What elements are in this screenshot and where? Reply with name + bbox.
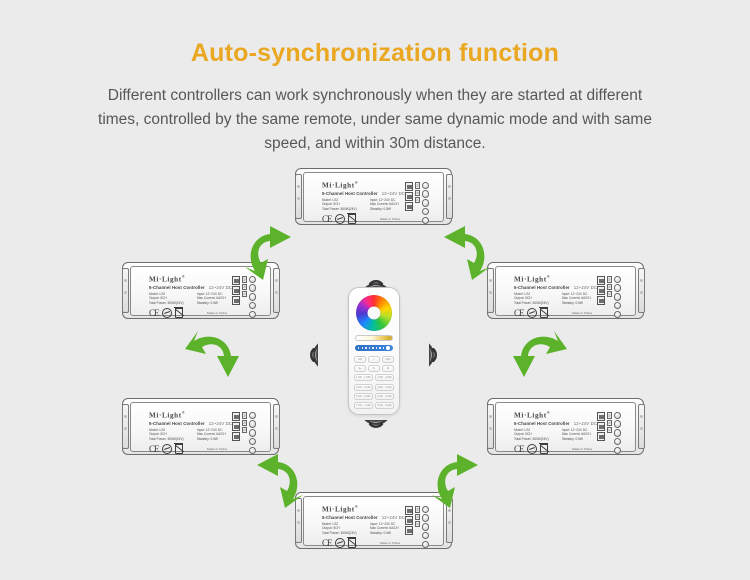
terminal-label bbox=[232, 276, 240, 285]
remote-key[interactable]: 4 ON4 OFF bbox=[375, 384, 394, 391]
remote-key-row: ONIOFF bbox=[354, 356, 394, 363]
color-wheel-icon[interactable] bbox=[356, 295, 392, 331]
device-terminal-block: V+RG bbox=[405, 506, 430, 549]
remote-key[interactable]: 3 ON3 OFF bbox=[354, 384, 373, 391]
terminal-screw bbox=[249, 412, 257, 420]
terminal-label bbox=[405, 516, 413, 525]
weee-bin-icon bbox=[175, 444, 184, 454]
terminal-screw bbox=[422, 199, 430, 207]
device-brand: Mi·Light® bbox=[514, 410, 550, 419]
terminal-screw bbox=[614, 438, 622, 446]
remote-key-label: 8 ON bbox=[377, 404, 383, 407]
device-face: Mi·Light® 5-Channel Host Controller12~24… bbox=[495, 266, 636, 316]
device-certifications: CE bbox=[514, 308, 548, 318]
ce-mark-icon: CE bbox=[514, 308, 524, 318]
terminal-screws bbox=[249, 276, 257, 319]
controller-right-lower: Mi·Light® 5-Channel Host Controller12~24… bbox=[487, 398, 644, 455]
device-certifications: CE bbox=[149, 444, 183, 454]
terminal-screw bbox=[249, 302, 257, 310]
device-model: 5-Channel Host Controller12~24V DC bbox=[514, 285, 597, 290]
terminal-port: G bbox=[242, 427, 247, 433]
remote-key-label: 7 OFF bbox=[364, 404, 371, 407]
terminal-screw bbox=[614, 429, 622, 437]
terminal-screw bbox=[422, 208, 430, 216]
terminal-screw bbox=[614, 447, 622, 455]
terminal-label bbox=[232, 286, 240, 295]
arrow-right-icon bbox=[508, 332, 570, 388]
mounting-ear-right bbox=[638, 404, 645, 449]
device-terminal-block: V+RG bbox=[232, 276, 257, 319]
terminal-labels bbox=[232, 276, 240, 305]
device-spec-line: Total Power: 360W(24V) bbox=[149, 301, 197, 306]
device-certifications: CE bbox=[149, 308, 183, 318]
device-made-in: Made in China bbox=[572, 447, 592, 451]
device-spec-line: Total Power: 360W(24V) bbox=[149, 437, 197, 442]
terminal-screw bbox=[422, 190, 430, 198]
page-title: Auto-synchronization function bbox=[0, 39, 750, 68]
terminal-label bbox=[405, 192, 413, 201]
terminal-screw bbox=[249, 420, 257, 428]
terminal-label bbox=[405, 202, 413, 211]
remote-key-label: 1 OFF bbox=[364, 376, 371, 379]
terminal-port: V+ bbox=[415, 506, 420, 513]
remote-key[interactable]: 2 ON2 OFF bbox=[375, 374, 394, 381]
terminal-screw bbox=[614, 276, 622, 284]
signal-up-icon bbox=[356, 258, 396, 288]
device-face: Mi·Light® 5-Channel Host Controller12~24… bbox=[303, 496, 444, 546]
terminal-screw bbox=[249, 438, 257, 446]
terminal-ports: V+RG bbox=[415, 182, 420, 203]
device-certifications: CE bbox=[322, 214, 356, 224]
mounting-ear-left bbox=[122, 404, 129, 449]
mounting-ear-right bbox=[273, 404, 280, 449]
device-model: 5-Channel Host Controller12~24V DC bbox=[514, 421, 597, 426]
terminal-screws bbox=[614, 276, 622, 319]
terminal-labels bbox=[232, 412, 240, 441]
terminal-port: G bbox=[242, 291, 247, 297]
remote-key-row: 1 ON1 OFF2 ON2 OFF bbox=[354, 374, 394, 381]
remote-key-label: 1 ON bbox=[356, 376, 362, 379]
remote-key-label: 4 ON bbox=[377, 386, 383, 389]
rohs-icon bbox=[527, 308, 537, 318]
remote-key[interactable]: ON bbox=[354, 356, 366, 363]
remote-key-label: 3 ON bbox=[356, 386, 362, 389]
terminal-screw bbox=[422, 182, 430, 190]
terminal-port: R bbox=[607, 420, 612, 426]
device-brand: Mi·Light® bbox=[514, 274, 550, 283]
weee-bin-icon bbox=[175, 308, 184, 318]
device-face: Mi·Light® 5-Channel Host Controller12~24… bbox=[495, 402, 636, 452]
mounting-ear-left bbox=[487, 404, 494, 449]
rohs-icon bbox=[162, 308, 172, 318]
remote-keypad[interactable]: ONIOFFS+S-M1 ON1 OFF2 ON2 OFF3 ON3 OFF4 … bbox=[354, 356, 394, 409]
remote-key-label: 5 ON bbox=[356, 395, 362, 398]
weee-bin-icon bbox=[348, 538, 357, 548]
device-spec-line: Total Power: 360W(24V) bbox=[322, 207, 370, 212]
terminal-port: G bbox=[415, 521, 420, 527]
remote-key-label: 6 OFF bbox=[385, 395, 392, 398]
device-face: Mi·Light® 5-Channel Host Controller12~24… bbox=[303, 172, 444, 222]
remote-key[interactable]: 7 ON7 OFF bbox=[354, 402, 373, 409]
weee-bin-icon bbox=[540, 444, 549, 454]
weee-bin-icon bbox=[348, 214, 357, 224]
remote-control[interactable]: ONIOFFS+S-M1 ON1 OFF2 ON2 OFF3 ON3 OFF4 … bbox=[348, 287, 400, 415]
remote-key-label: 4 OFF bbox=[385, 386, 392, 389]
terminal-labels bbox=[597, 276, 605, 305]
terminal-screw bbox=[422, 541, 430, 549]
device-made-in: Made in China bbox=[207, 447, 227, 451]
rohs-icon bbox=[162, 444, 172, 454]
terminal-screw bbox=[422, 217, 430, 225]
device-terminal-block: V+RG bbox=[232, 412, 257, 455]
terminal-screw bbox=[614, 420, 622, 428]
brightness-slider[interactable] bbox=[355, 335, 393, 341]
remote-key-row: 5 ON5 OFF6 ON6 OFF bbox=[354, 393, 394, 400]
remote-key[interactable]: S- bbox=[368, 365, 380, 372]
remote-key-row: S+S-M bbox=[354, 365, 394, 372]
signal-right-icon bbox=[424, 340, 464, 370]
device-certifications: CE bbox=[322, 538, 356, 548]
device-certifications: CE bbox=[514, 444, 548, 454]
device-model: 5-Channel Host Controller12~24V DC bbox=[149, 285, 232, 290]
device-spec-line: Total Power: 360W(24V) bbox=[322, 531, 370, 536]
terminal-screw bbox=[422, 532, 430, 540]
device-brand: Mi·Light® bbox=[149, 274, 185, 283]
remote-key-label: 5 OFF bbox=[364, 395, 371, 398]
terminal-screw bbox=[614, 284, 622, 292]
device-model: 5-Channel Host Controller12~24V DC bbox=[322, 515, 405, 520]
terminal-port: G bbox=[607, 291, 612, 297]
terminal-screws bbox=[422, 506, 430, 549]
device-made-in: Made in China bbox=[572, 311, 592, 315]
terminal-screws bbox=[249, 412, 257, 455]
mounting-ear-right bbox=[446, 174, 453, 219]
ce-mark-icon: CE bbox=[322, 214, 332, 224]
terminal-label bbox=[232, 412, 240, 421]
terminal-screw bbox=[249, 293, 257, 301]
terminal-port: R bbox=[415, 514, 420, 520]
terminal-port: V+ bbox=[415, 182, 420, 189]
zone-selector-bar[interactable] bbox=[355, 345, 393, 351]
ce-mark-icon: CE bbox=[149, 444, 159, 454]
device-made-in: Made in China bbox=[380, 541, 400, 545]
arrow-bottom-right-icon bbox=[430, 452, 492, 508]
terminal-labels bbox=[405, 506, 413, 535]
terminal-port: G bbox=[415, 197, 420, 203]
terminal-screw bbox=[249, 284, 257, 292]
signal-down-icon bbox=[356, 420, 396, 450]
remote-key[interactable]: 1 ON1 OFF bbox=[354, 374, 373, 381]
controller-right-upper: Mi·Light® 5-Channel Host Controller12~24… bbox=[487, 262, 644, 319]
terminal-screw bbox=[614, 293, 622, 301]
remote-key-label: 3 OFF bbox=[364, 386, 371, 389]
terminal-label bbox=[405, 506, 413, 515]
terminal-port: R bbox=[242, 420, 247, 426]
rohs-icon bbox=[527, 444, 537, 454]
ce-mark-icon: CE bbox=[149, 308, 159, 318]
terminal-screws bbox=[422, 182, 430, 225]
device-terminal-block: V+RG bbox=[597, 276, 622, 319]
device-spec-line: Total Power: 360W(24V) bbox=[514, 437, 562, 442]
mounting-ear-right bbox=[638, 268, 645, 313]
mounting-ear-left bbox=[122, 268, 129, 313]
remote-key-label: 6 ON bbox=[377, 395, 383, 398]
remote-key-label: 2 OFF bbox=[385, 376, 392, 379]
terminal-label bbox=[597, 432, 605, 441]
terminal-screw bbox=[614, 412, 622, 420]
arrow-top-left-icon bbox=[243, 224, 305, 280]
terminal-screw bbox=[614, 311, 622, 319]
terminal-ports: V+RG bbox=[415, 506, 420, 527]
arrow-bottom-left-icon bbox=[243, 452, 305, 508]
terminal-port: V+ bbox=[607, 412, 612, 419]
ce-mark-icon: CE bbox=[514, 444, 524, 454]
terminal-labels bbox=[597, 412, 605, 441]
device-terminal-block: V+RG bbox=[405, 182, 430, 225]
remote-key-row: 3 ON3 OFF4 ON4 OFF bbox=[354, 384, 394, 391]
device-spec-line: Total Power: 360W(24V) bbox=[514, 301, 562, 306]
terminal-ports: V+RG bbox=[242, 412, 247, 433]
terminal-label bbox=[232, 422, 240, 431]
rohs-icon bbox=[335, 214, 345, 224]
device-brand: Mi·Light® bbox=[149, 410, 185, 419]
remote-key[interactable]: 8 ON8 OFF bbox=[375, 402, 394, 409]
terminal-port: G bbox=[607, 427, 612, 433]
terminal-port: V+ bbox=[242, 412, 247, 419]
remote-key[interactable]: 6 ON6 OFF bbox=[375, 393, 394, 400]
terminal-label bbox=[597, 422, 605, 431]
terminal-label bbox=[232, 432, 240, 441]
arrow-left-icon bbox=[182, 332, 244, 388]
device-brand: Mi·Light® bbox=[322, 504, 358, 513]
remote-key-label: 2 ON bbox=[377, 376, 383, 379]
terminal-screw bbox=[614, 302, 622, 310]
weee-bin-icon bbox=[540, 308, 549, 318]
remote-key[interactable]: M bbox=[382, 365, 394, 372]
diagram-canvas: Auto-synchronization function Different … bbox=[0, 0, 750, 580]
terminal-screw bbox=[249, 311, 257, 319]
remote-key[interactable]: OFF bbox=[382, 356, 394, 363]
controller-left-lower: Mi·Light® 5-Channel Host Controller12~24… bbox=[122, 398, 279, 455]
terminal-port: R bbox=[242, 284, 247, 290]
terminal-screws bbox=[614, 412, 622, 455]
terminal-label bbox=[597, 412, 605, 421]
remote-key-label: 8 OFF bbox=[385, 404, 392, 407]
terminal-label bbox=[405, 182, 413, 191]
mounting-ear-left bbox=[295, 174, 302, 219]
terminal-label bbox=[597, 276, 605, 285]
terminal-screw bbox=[422, 523, 430, 531]
remote-key[interactable]: I bbox=[368, 356, 380, 363]
terminal-label bbox=[597, 296, 605, 305]
terminal-port: V+ bbox=[607, 276, 612, 283]
terminal-screw bbox=[422, 514, 430, 522]
device-face: Mi·Light® 5-Channel Host Controller12~24… bbox=[130, 402, 271, 452]
remote-key-row: 7 ON7 OFF8 ON8 OFF bbox=[354, 402, 394, 409]
controller-top: Mi·Light® 5-Channel Host Controller12~24… bbox=[295, 168, 452, 225]
arrow-top-right-icon bbox=[430, 224, 492, 280]
device-model: 5-Channel Host Controller12~24V DC bbox=[322, 191, 405, 196]
terminal-screw bbox=[422, 506, 430, 514]
terminal-screw bbox=[249, 429, 257, 437]
terminal-port: R bbox=[415, 190, 420, 196]
terminal-label bbox=[597, 286, 605, 295]
page-subtitle: Different controllers can work synchrono… bbox=[85, 84, 665, 156]
terminal-label bbox=[232, 296, 240, 305]
terminal-labels bbox=[405, 182, 413, 211]
device-model: 5-Channel Host Controller12~24V DC bbox=[149, 421, 232, 426]
terminal-label bbox=[405, 526, 413, 535]
terminal-ports: V+RG bbox=[607, 276, 612, 297]
terminal-ports: V+RG bbox=[607, 412, 612, 433]
device-brand: Mi·Light® bbox=[322, 180, 358, 189]
device-made-in: Made in China bbox=[380, 217, 400, 221]
controller-bottom: Mi·Light® 5-Channel Host Controller12~24… bbox=[295, 492, 452, 549]
remote-key[interactable]: S+ bbox=[354, 365, 366, 372]
remote-key-label: 7 ON bbox=[356, 404, 362, 407]
rohs-icon bbox=[335, 538, 345, 548]
remote-key[interactable]: 5 ON5 OFF bbox=[354, 393, 373, 400]
terminal-port: R bbox=[607, 284, 612, 290]
device-terminal-block: V+RG bbox=[597, 412, 622, 455]
ce-mark-icon: CE bbox=[322, 538, 332, 548]
device-made-in: Made in China bbox=[207, 311, 227, 315]
signal-left-icon bbox=[283, 340, 323, 370]
